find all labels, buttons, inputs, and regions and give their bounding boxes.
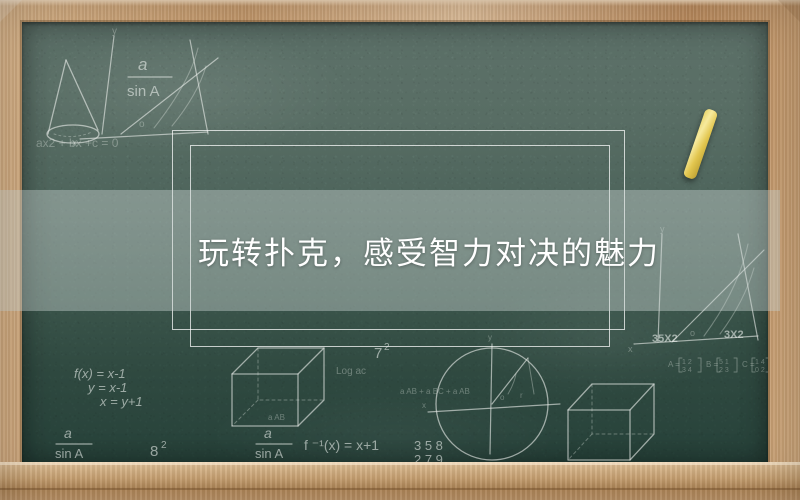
- ledge-seam-line: [0, 488, 800, 490]
- svg-text:7: 7: [374, 345, 382, 362]
- svg-text:a AB + a BC + a AB: a AB + a BC + a AB: [400, 387, 470, 396]
- banner-image: a sin A ax2 + bx +c = 0 y x o: [0, 0, 800, 500]
- banner-title: 玩转扑克，感受智力对决的魅力: [0, 190, 780, 311]
- svg-text:y = x-1: y = x-1: [87, 380, 127, 395]
- ledge-top-highlight: [0, 462, 800, 465]
- frame-bottom-ledge: [0, 462, 800, 500]
- svg-text:8: 8: [150, 443, 158, 460]
- frame-corner-top-left: [0, 0, 22, 22]
- svg-text:sin A: sin A: [55, 446, 84, 461]
- svg-text:x = y+1: x = y+1: [99, 394, 143, 409]
- svg-text:sin A: sin A: [255, 446, 284, 461]
- svg-text:f(x) = x-1: f(x) = x-1: [74, 366, 126, 381]
- svg-text:2: 2: [161, 440, 167, 451]
- frame-corner-top-right: [778, 0, 800, 22]
- svg-text:a: a: [64, 425, 72, 441]
- svg-text:a: a: [264, 425, 272, 441]
- frame-highlight: [0, 0, 800, 6]
